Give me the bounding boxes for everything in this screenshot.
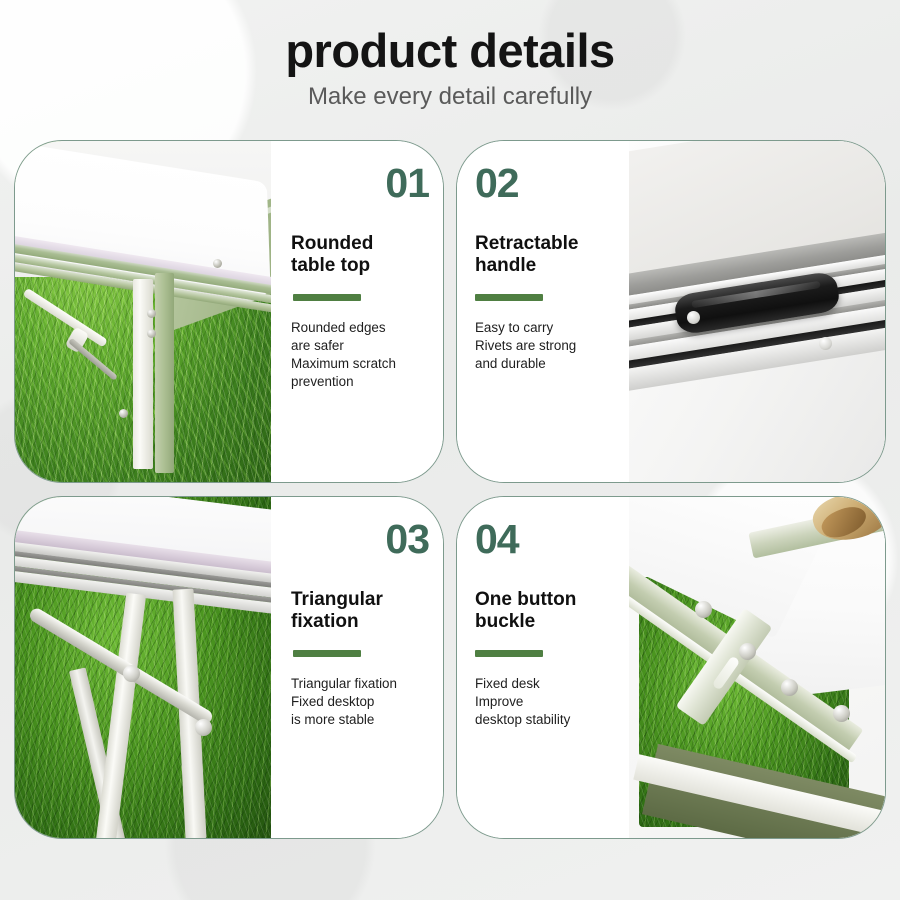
triangular-fixation-brace-photo <box>15 497 271 838</box>
feature-card-02: 02 Retractable handle Easy to carry Rive… <box>456 140 886 483</box>
table-leg-right <box>155 273 174 473</box>
feature-card-04: 04 One button buckle Fixed desk Improve … <box>456 496 886 839</box>
brace-pin <box>123 665 140 682</box>
feature-title-02: Retractable handle <box>475 233 613 277</box>
divider-bar-01 <box>293 294 361 301</box>
feature-number-02: 02 <box>475 163 613 204</box>
feature-title-03: Triangular fixation <box>291 589 429 633</box>
divider-bar-04 <box>475 650 543 657</box>
page-subtitle: Make every detail carefully <box>308 84 592 110</box>
divider-bar-03 <box>293 650 361 657</box>
feature-text-04: 04 One button buckle Fixed desk Improve … <box>457 497 629 838</box>
rivet <box>739 643 756 660</box>
feature-title-04: One button buckle <box>475 589 613 633</box>
retractable-handle-photo <box>629 141 885 482</box>
one-button-buckle-photo <box>629 497 885 838</box>
feature-number-04: 04 <box>475 519 613 560</box>
rivet <box>213 259 222 268</box>
handle-rivet <box>819 337 832 350</box>
feature-body-04: Fixed desk Improve desktop stability <box>475 675 613 728</box>
feature-number-03: 03 <box>291 519 429 560</box>
rivet <box>695 601 712 618</box>
feature-number-01: 01 <box>291 163 429 204</box>
rounded-table-corner-on-grass-photo <box>15 141 271 482</box>
handle-rivet <box>687 311 700 324</box>
feature-card-01: 01 Rounded table top Rounded edges are s… <box>14 140 444 483</box>
rivet <box>833 705 850 722</box>
header: product details Make every detail carefu… <box>0 0 900 140</box>
divider-bar-02 <box>475 294 543 301</box>
feature-text-01: 01 Rounded table top Rounded edges are s… <box>271 141 443 482</box>
feature-body-01: Rounded edges are safer Maximum scratch … <box>291 319 429 390</box>
table-leg-front <box>133 279 153 469</box>
feature-title-01: Rounded table top <box>291 233 429 277</box>
feature-grid: 01 Rounded table top Rounded edges are s… <box>14 140 886 842</box>
feature-body-03: Triangular fixation Fixed desktop is mor… <box>291 675 429 728</box>
feature-text-02: 02 Retractable handle Easy to carry Rive… <box>457 141 629 482</box>
feature-card-03: 03 Triangular fixation Triangular fixati… <box>14 496 444 839</box>
page-title: product details <box>285 26 614 77</box>
rivet <box>147 329 156 338</box>
rivet <box>781 679 798 696</box>
rivet <box>119 409 128 418</box>
rivet <box>147 309 156 318</box>
feature-body-02: Easy to carry Rivets are strong and dura… <box>475 319 613 372</box>
brace-pin <box>195 719 212 736</box>
feature-text-03: 03 Triangular fixation Triangular fixati… <box>271 497 443 838</box>
